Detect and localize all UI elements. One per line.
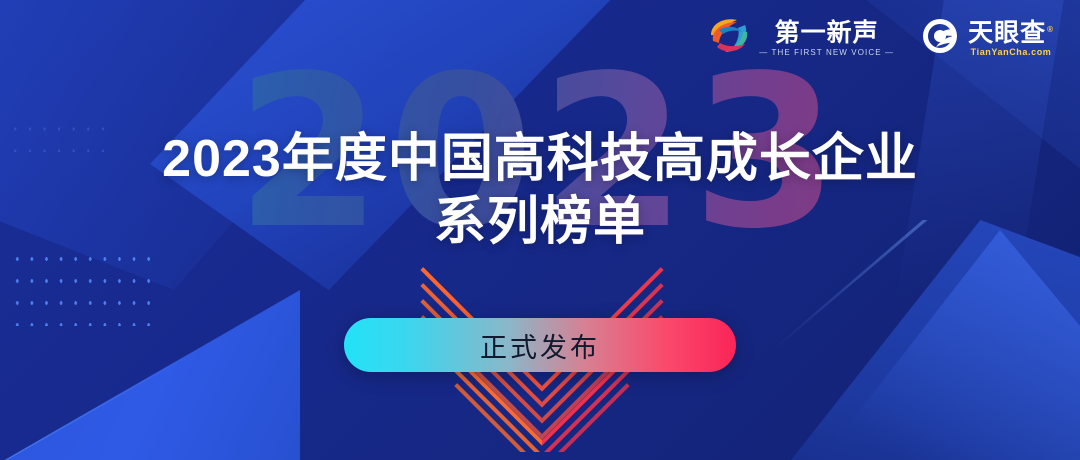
logo-tianyancha[interactable]: 天眼查® TianYanCha.com: [920, 16, 1054, 61]
logo-tianyancha-text: 天眼查® TianYanCha.com: [968, 20, 1054, 57]
banner-headline: 2023年度中国高科技高成长企业 系列榜单: [0, 130, 1080, 253]
chevron-decoration-bottom: [410, 362, 670, 452]
headline-line-2: 系列榜单: [0, 193, 1080, 252]
chevron-icon: [454, 362, 629, 452]
promo-banner: 2023 第一新声 —: [0, 0, 1080, 460]
logo-diyixinsheng-text: 第一新声 — THE FIRST NEW VOICE —: [759, 20, 894, 57]
dot-grid-pattern: [10, 248, 158, 326]
release-status-pill[interactable]: 正式发布: [344, 318, 736, 372]
logo-tianyancha-domain: TianYanCha.com: [971, 47, 1052, 57]
logo-diyixinsheng[interactable]: 第一新声 — THE FIRST NEW VOICE —: [707, 16, 894, 61]
ribbon-swirl-icon: [707, 16, 751, 61]
logo-tianyancha-name-cn: 天眼查: [968, 19, 1046, 47]
logo-bar: 第一新声 — THE FIRST NEW VOICE — 天眼查® TianYa…: [707, 16, 1054, 61]
logo-diyixinsheng-name: 第一新声: [775, 20, 879, 46]
logo-tianyancha-name: 天眼查®: [968, 20, 1054, 46]
eye-aperture-icon: [920, 16, 960, 61]
logo-diyixinsheng-tagline: — THE FIRST NEW VOICE —: [759, 48, 894, 57]
headline-line-1: 2023年度中国高科技高成长企业: [0, 130, 1080, 189]
registered-trademark-icon: ®: [1047, 25, 1054, 34]
release-status-label: 正式发布: [480, 326, 600, 365]
